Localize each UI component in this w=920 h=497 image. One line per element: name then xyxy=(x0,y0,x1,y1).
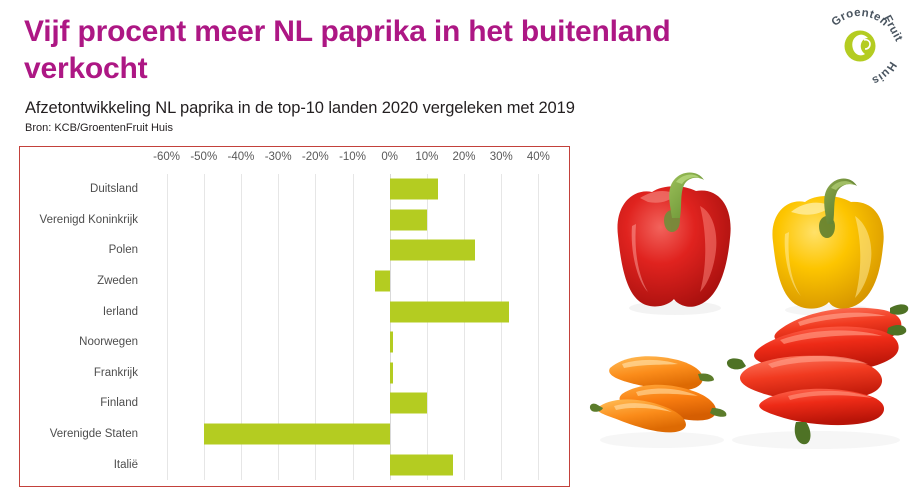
category-label: Verenigd Koninkrijk xyxy=(40,214,138,226)
chart-row: Ierland xyxy=(20,296,569,327)
bar[interactable] xyxy=(390,179,438,200)
chart-row: Polen xyxy=(20,235,569,266)
chart-container: -60%-50%-40%-30%-20%-10%0%10%20%30%40% D… xyxy=(19,146,570,487)
x-tick-label: 30% xyxy=(490,151,513,163)
bar[interactable] xyxy=(204,424,390,445)
svg-text:Fruit: Fruit xyxy=(881,13,905,43)
x-tick-label: -50% xyxy=(190,151,217,163)
bar[interactable] xyxy=(390,454,453,475)
chart-row: Frankrijk xyxy=(20,358,569,389)
x-axis-tick-labels: -60%-50%-40%-30%-20%-10%0%10%20%30%40% xyxy=(20,151,569,171)
x-tick-label: -20% xyxy=(302,151,329,163)
x-tick-label: 40% xyxy=(527,151,550,163)
category-label: Ierland xyxy=(103,306,138,318)
x-tick-label: 10% xyxy=(415,151,438,163)
plot-area: DuitslandVerenigd KoninkrijkPolenZwedenI… xyxy=(20,174,569,480)
bar[interactable] xyxy=(390,209,427,230)
category-label: Zweden xyxy=(97,275,138,287)
category-label: Italië xyxy=(114,459,138,471)
x-tick-label: -30% xyxy=(265,151,292,163)
chart-row: Duitsland xyxy=(20,174,569,205)
chart-row: Finland xyxy=(20,388,569,419)
svg-text:Huis: Huis xyxy=(870,59,899,84)
category-label: Duitsland xyxy=(90,183,138,195)
bar-rows: DuitslandVerenigd KoninkrijkPolenZwedenI… xyxy=(20,174,569,480)
x-tick-label: 20% xyxy=(453,151,476,163)
bar[interactable] xyxy=(390,301,509,322)
x-tick-label: -60% xyxy=(153,151,180,163)
x-tick-label: -10% xyxy=(339,151,366,163)
page-title: Vijf procent meer NL paprika in het buit… xyxy=(24,14,764,87)
category-label: Polen xyxy=(109,244,138,256)
bar[interactable] xyxy=(390,240,476,261)
category-label: Noorwegen xyxy=(79,336,138,348)
chart-row: Verenigde Staten xyxy=(20,419,569,450)
bar[interactable] xyxy=(390,332,394,353)
x-tick-label: 0% xyxy=(381,151,398,163)
source-note: Bron: KCB/GroentenFruit Huis xyxy=(25,122,173,134)
bar[interactable] xyxy=(390,362,394,383)
orange-mini-peppers xyxy=(592,334,732,454)
bar[interactable] xyxy=(375,271,390,292)
category-label: Finland xyxy=(100,397,138,409)
category-label: Frankrijk xyxy=(94,367,138,379)
chart-row: Zweden xyxy=(20,266,569,297)
groentenfruit-huis-logo: Groenten Huis Fruit xyxy=(812,4,908,84)
bar[interactable] xyxy=(390,393,427,414)
red-long-peppers xyxy=(720,294,910,454)
pepper-photo-panel xyxy=(592,152,914,492)
x-tick-label: -40% xyxy=(228,151,255,163)
chart-row: Noorwegen xyxy=(20,327,569,358)
chart-row: Italië xyxy=(20,449,569,480)
chart-row: Verenigd Koninkrijk xyxy=(20,205,569,236)
category-label: Verenigde Staten xyxy=(50,428,138,440)
chart-subtitle: Afzetontwikkeling NL paprika in de top-1… xyxy=(25,99,575,118)
